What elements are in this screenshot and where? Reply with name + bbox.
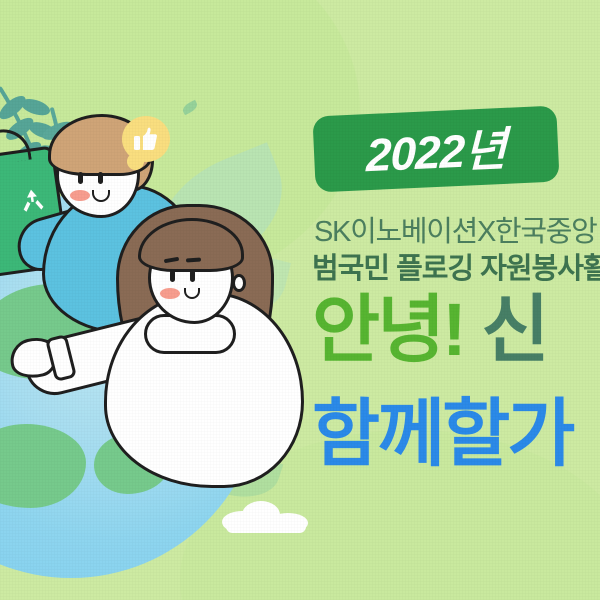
- subtitle-line-2: 범국민 플로깅 자원봉사활: [312, 245, 600, 287]
- boy-eye: [78, 172, 83, 184]
- headline-line-2: 함께할가: [312, 397, 600, 471]
- thumbs-up-bubble: [122, 116, 170, 162]
- boy-eye: [98, 172, 103, 184]
- year-badge: 2022년: [312, 106, 559, 193]
- headline-line-1: 안녕! 신: [312, 293, 600, 367]
- girl-eye: [190, 270, 195, 282]
- campaign-banner: 2022년 SK이노베이션X한국중앙 범국민 플로깅 자원봉사활 안녕! 신 함…: [0, 0, 600, 600]
- continent-shape: [0, 424, 86, 508]
- headline-greeting: 안녕!: [312, 288, 464, 371]
- headline-accent: 신: [481, 288, 546, 371]
- girl-eye: [170, 270, 175, 282]
- year-badge-label: 2022년: [366, 113, 506, 185]
- thumbs-up-icon: [134, 126, 158, 152]
- girl-ear: [232, 274, 246, 292]
- girl-cheek: [160, 288, 180, 299]
- boy-cheek: [70, 190, 90, 201]
- girl-character: [96, 208, 336, 508]
- text-content-column: 2022년 SK이노베이션X한국중앙 범국민 플로깅 자원봉사활 안녕! 신 함…: [308, 0, 600, 600]
- subtitle-line-1: SK이노베이션X한국중앙: [314, 208, 600, 250]
